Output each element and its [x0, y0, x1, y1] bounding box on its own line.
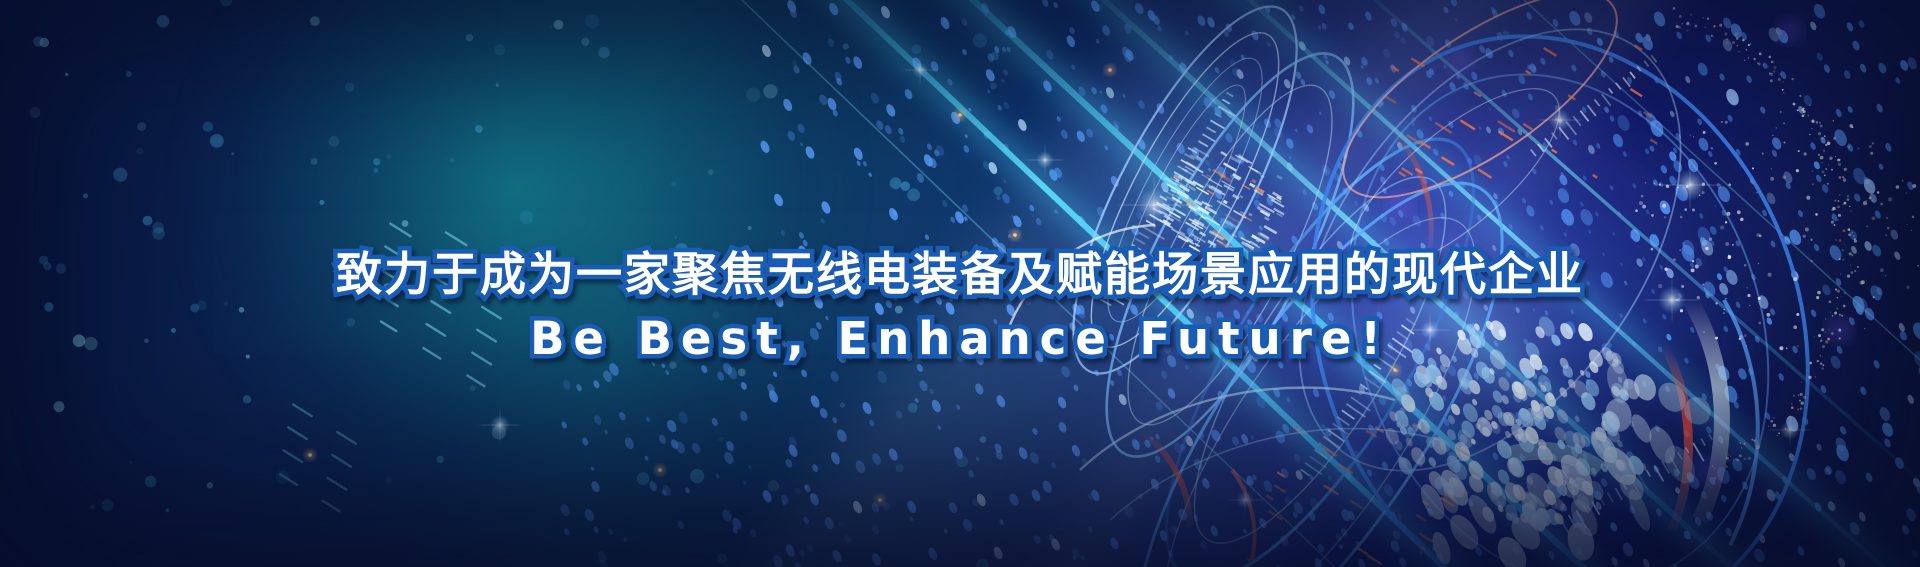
- hero-banner: 致力于成为一家聚焦无线电装备及赋能场景应用的现代企业 Be Best, Enha…: [0, 0, 1920, 567]
- bottom-shade: [0, 329, 1920, 567]
